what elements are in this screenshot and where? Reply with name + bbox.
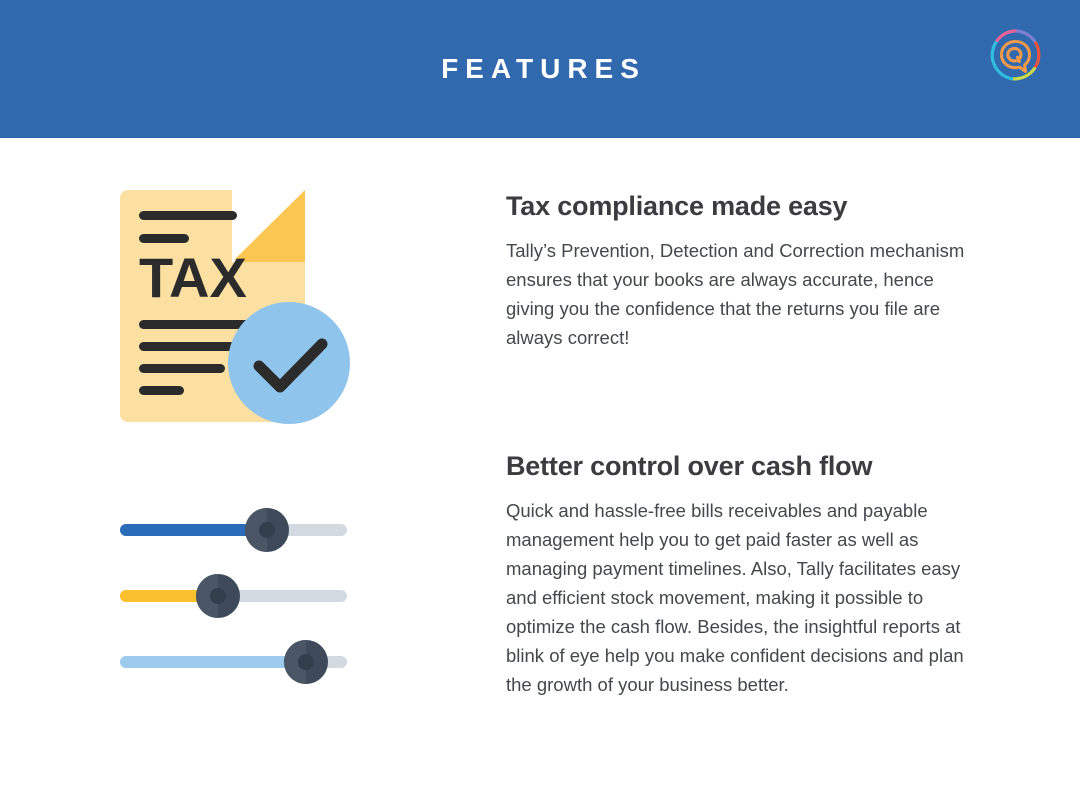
slider-three-knob[interactable] bbox=[284, 640, 328, 684]
feature-block-cash-flow-control: Better control over cash flow Quick and … bbox=[0, 450, 1080, 800]
slider-two[interactable] bbox=[120, 574, 347, 618]
feature-block-tax-compliance: TAX Tax compliance made easy Tally’s Pre… bbox=[0, 190, 1080, 490]
features-content: TAX Tax compliance made easy Tally’s Pre… bbox=[0, 138, 1080, 810]
slider-two-knob[interactable] bbox=[196, 574, 240, 618]
feature-heading: Better control over cash flow bbox=[506, 450, 966, 482]
document-text-line bbox=[139, 211, 237, 220]
feature-heading: Tax compliance made easy bbox=[506, 190, 966, 222]
document-text-line bbox=[139, 234, 189, 243]
check-circle-icon bbox=[228, 302, 350, 424]
page-header: FEATURES bbox=[0, 0, 1080, 138]
slider-one-knob[interactable] bbox=[245, 508, 289, 552]
slider-one[interactable] bbox=[120, 508, 347, 552]
page-title: FEATURES bbox=[0, 0, 1080, 138]
feature-body: Quick and hassle-free bills receivables … bbox=[506, 496, 966, 699]
feature-text-cash-flow-control: Better control over cash flow Quick and … bbox=[506, 450, 966, 699]
feature-body: Tally’s Prevention, Detection and Correc… bbox=[506, 236, 966, 352]
slider-three-fill bbox=[120, 656, 306, 668]
feature-text-tax-compliance: Tax compliance made easy Tally’s Prevent… bbox=[506, 190, 966, 352]
sliders-illustration bbox=[120, 508, 400, 698]
slider-three[interactable] bbox=[120, 640, 347, 684]
document-text-line bbox=[139, 386, 184, 395]
document-tax-label: TAX bbox=[139, 250, 247, 306]
tax-document-illustration: TAX bbox=[120, 190, 400, 430]
document-text-line bbox=[139, 364, 225, 373]
q-speech-bubble-logo[interactable] bbox=[987, 27, 1043, 83]
